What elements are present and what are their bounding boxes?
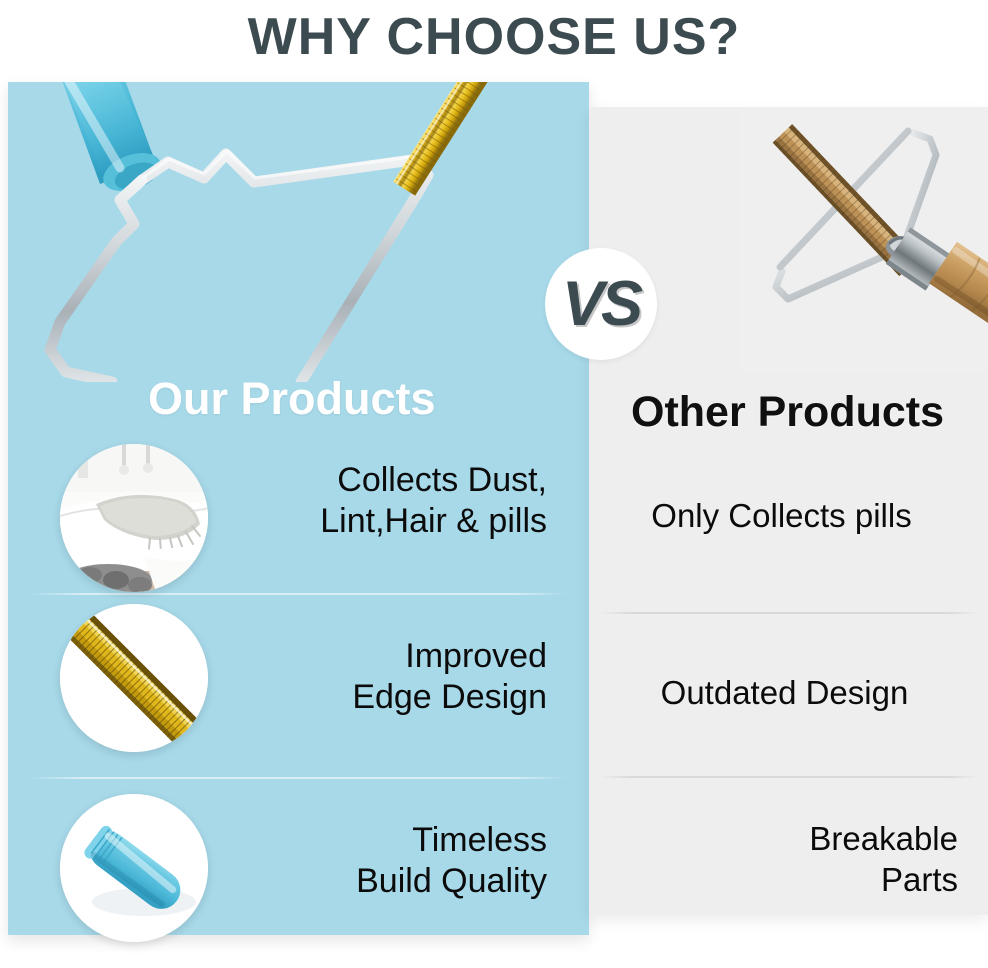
our-product-hero-image (8, 82, 589, 382)
our-feature-label: Improved Edge Design (217, 636, 547, 718)
our-feature-label: Collects Dust, Lint,Hair & pills (217, 460, 547, 542)
other-feature-label: Breakable Parts (589, 818, 988, 900)
other-products-heading: Other Products (631, 388, 944, 437)
other-feature-label: Outdated Design (589, 672, 988, 713)
bed-with-blanket-thumb (60, 444, 208, 592)
our-feature-row-2: Improved Edge Design (8, 600, 589, 753)
our-feature-label: Timeless Build Quality (217, 820, 547, 902)
our-feature-row-1: Collects Dust, Lint,Hair & pills (8, 440, 589, 593)
our-feature-row-3: Timeless Build Quality (8, 790, 589, 943)
feature-divider (28, 777, 568, 779)
other-feature-label: Only Collects pills (589, 495, 988, 536)
gold-blade-edge-thumb (60, 604, 208, 752)
other-feature-row-2: Outdated Design (589, 672, 988, 713)
other-feature-divider (600, 776, 978, 778)
page-title: WHY CHOOSE US? (0, 0, 988, 74)
other-feature-row-1: Only Collects pills (589, 495, 988, 536)
vs-badge-label: VS (545, 248, 657, 360)
vs-badge-icon: VS (545, 248, 657, 360)
other-feature-divider (600, 612, 978, 614)
other-product-hero-image (740, 107, 988, 372)
infographic-page: WHY CHOOSE US? (0, 0, 988, 968)
feature-divider (28, 593, 568, 595)
other-feature-row-3: Breakable Parts (589, 818, 988, 900)
our-products-heading: Our Products (148, 373, 436, 425)
blue-handle-thumb (60, 794, 208, 942)
